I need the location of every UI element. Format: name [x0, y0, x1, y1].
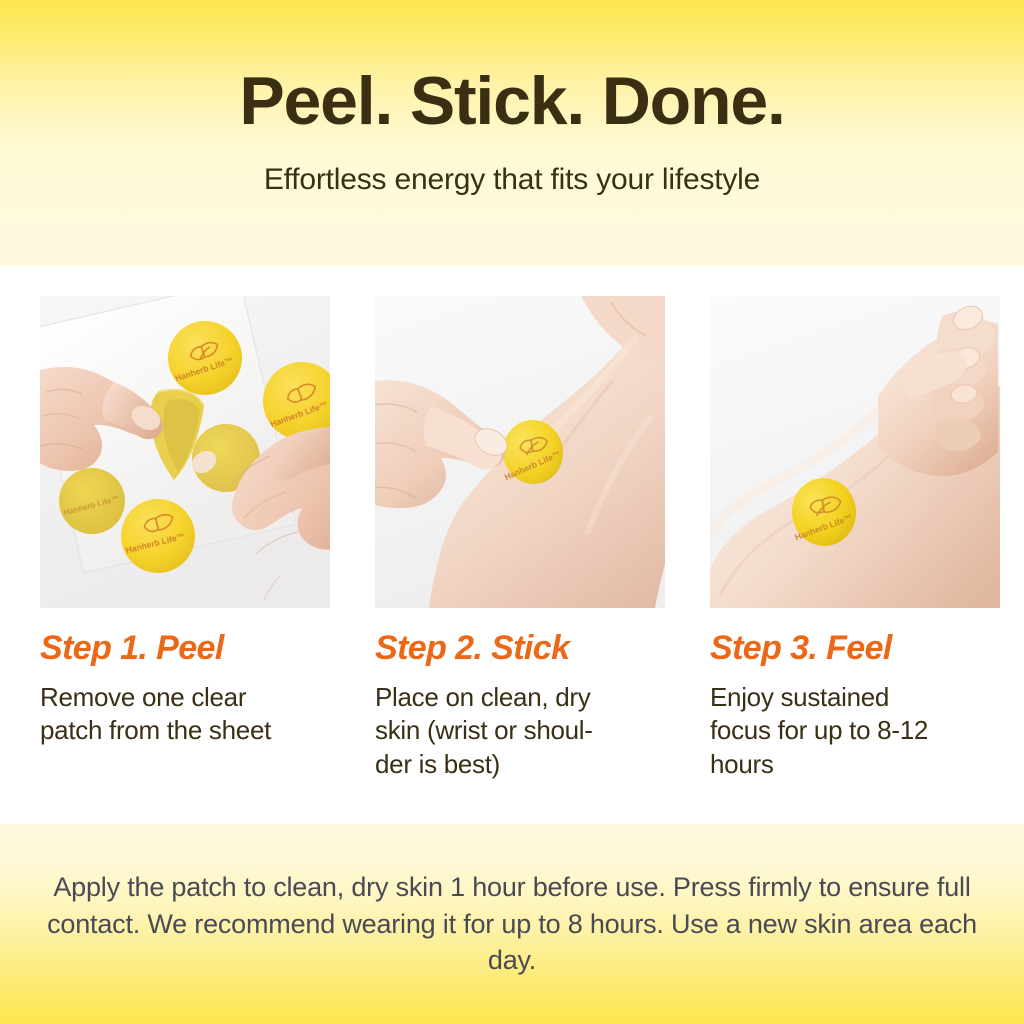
step-description-3: Enjoy sustained focus for up to 8-12 hou… — [710, 681, 1000, 781]
step-2-photo-stick: Hanherb Life™ — [375, 296, 665, 608]
step-card-2: Hanherb Life™ S — [375, 296, 665, 781]
page-subtitle: Effortless energy that fits your lifesty… — [264, 163, 760, 197]
promo-infographic: Peel. Stick. Done. Effortless energy tha… — [0, 0, 1024, 1024]
header-band: Peel. Stick. Done. Effortless energy tha… — [0, 0, 1024, 266]
step-1-photo-peel: Hanherb Life™ Hanherb Life™ Hanherb Life… — [40, 296, 330, 608]
step-3-photo-feel: Hanherb Life™ — [710, 296, 1000, 608]
footer-band: Apply the patch to clean, dry skin 1 hou… — [0, 824, 1024, 1024]
step-card-3: Hanherb Life™ Step 3. Feel Enjoy sustain… — [710, 296, 1000, 781]
page-title: Peel. Stick. Done. — [239, 67, 784, 135]
step-description-2: Place on clean, dry skin (wrist or shoul… — [375, 681, 665, 781]
step-card-1: Hanherb Life™ Hanherb Life™ Hanherb Life… — [40, 296, 330, 748]
step-title-2: Step 2. Stick — [375, 631, 665, 665]
step-description-1: Remove one clear patch from the sheet — [40, 681, 330, 748]
step-title-3: Step 3. Feel — [710, 631, 1000, 665]
step-title-1: Step 1. Peel — [40, 631, 330, 665]
usage-instructions: Apply the patch to clean, dry skin 1 hou… — [25, 869, 1000, 979]
steps-section: Hanherb Life™ Hanherb Life™ Hanherb Life… — [0, 266, 1024, 824]
